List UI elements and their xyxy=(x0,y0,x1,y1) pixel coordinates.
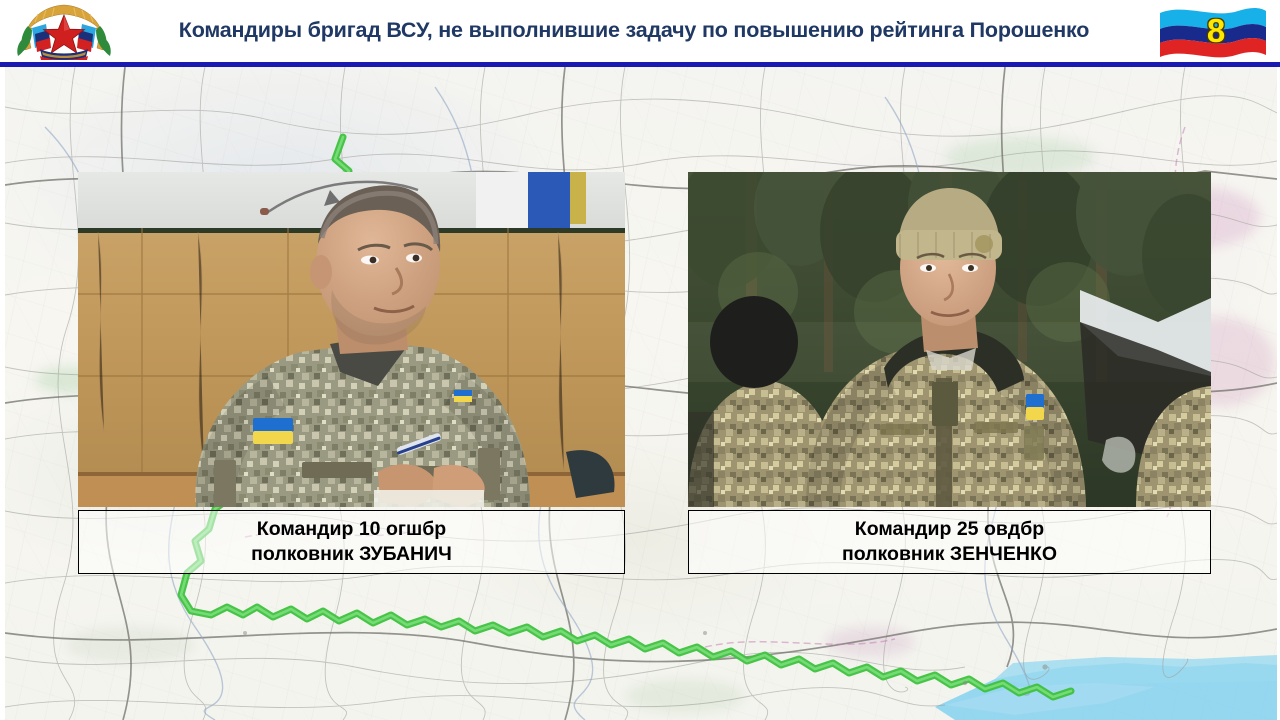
slide-header: Командиры бригад ВСУ, не выполнившие зад… xyxy=(0,0,1280,62)
caption-line-1: Командир 25 овдбр xyxy=(855,517,1044,542)
ukraine-flag-patch-icon xyxy=(1026,394,1044,420)
caption-line-2: полковник ЗЕНЧЕНКО xyxy=(842,542,1057,567)
photo-left-content xyxy=(78,172,625,507)
slide-number: 8 xyxy=(1158,3,1268,59)
ukraine-flag-patch-icon xyxy=(253,418,293,444)
caption-line-2: полковник ЗУБАНИЧ xyxy=(251,542,452,567)
caption-commander-zenchenko: Командир 25 овдбр полковник ЗЕНЧЕНКО xyxy=(688,510,1211,574)
lpr-coat-of-arms-icon xyxy=(16,2,112,60)
photo-commander-zubanich xyxy=(78,172,625,507)
page-title: Командиры бригад ВСУ, не выполнившие зад… xyxy=(128,0,1140,62)
caption-line-1: Командир 10 огшбр xyxy=(257,517,446,542)
coat-of-arms-svg xyxy=(16,2,112,60)
ukraine-flag-patch-icon xyxy=(454,390,472,402)
photo-right-content xyxy=(688,172,1211,507)
slide-body: Командир 10 огшбр полковник ЗУБАНИЧ Кома… xyxy=(0,67,1280,720)
caption-commander-zubanich: Командир 10 огшбр полковник ЗУБАНИЧ xyxy=(78,510,625,574)
slide-root: Командир 10 огшбр полковник ЗУБАНИЧ Кома… xyxy=(0,0,1280,720)
lpr-flag-icon: 8 xyxy=(1158,3,1268,59)
photo-commander-zenchenko xyxy=(688,172,1211,507)
header-divider xyxy=(0,62,1280,67)
